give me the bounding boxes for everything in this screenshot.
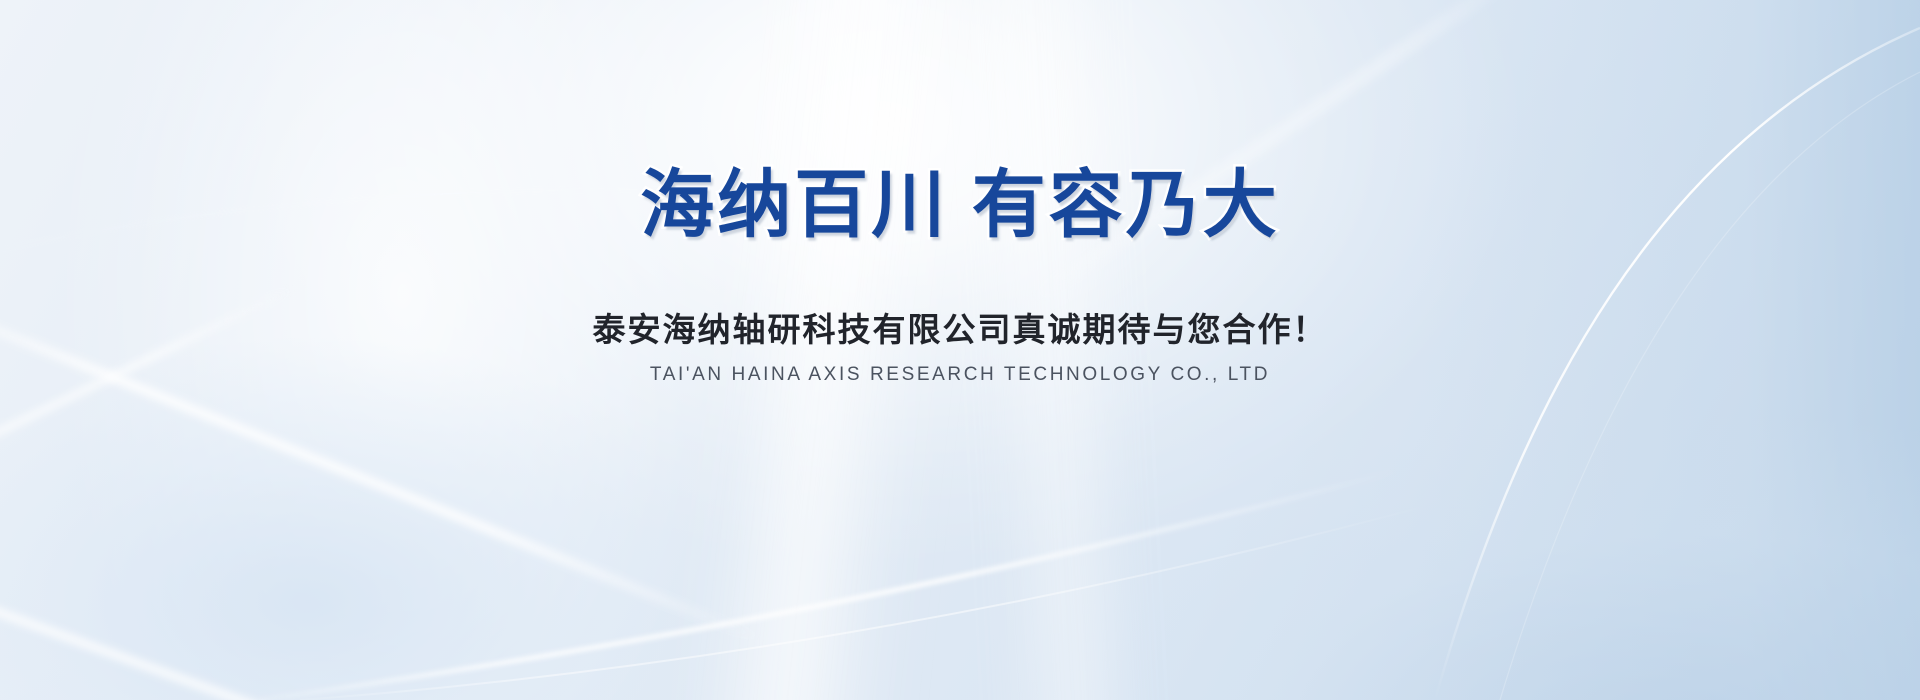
arc-upper-left (0, 189, 700, 250)
background-bloom-lower-left (0, 0, 1920, 700)
light-streak-bottom-left-3 (0, 533, 450, 700)
arc-top-right-companion (1500, 72, 1920, 700)
background-shade-bottom-right (0, 0, 1920, 700)
arc-top-right (1435, 28, 1920, 700)
light-shaft-secondary (975, 0, 1142, 700)
arc-bottom-sweep (260, 470, 1400, 700)
light-streak-bottom-left-1 (0, 269, 766, 645)
banner-subtitle-chinese: 泰安海纳轴研科技有限公司真诚期待与您合作！ (0, 309, 1920, 350)
banner-subtitle-english: TAI'AN HAINA AXIS RESEARCH TECHNOLOGY CO… (0, 363, 1920, 388)
background-bloom-center (0, 0, 1920, 700)
light-streak-upper-right (1029, 0, 1552, 306)
background-bloom-left (0, 0, 1920, 700)
arc-bottom-sweep-thin (300, 505, 1430, 700)
background-shade-right (0, 0, 1920, 700)
hero-banner: 海纳百川 有容乃大 泰安海纳轴研科技有限公司真诚期待与您合作！ TAI'AN H… (0, 0, 1920, 700)
banner-headline: 海纳百川 有容乃大 (0, 168, 1920, 242)
light-streak-bottom-left-2 (0, 284, 295, 519)
banner-content: 海纳百川 有容乃大 泰安海纳轴研科技有限公司真诚期待与您合作！ TAI'AN H… (0, 0, 1920, 700)
light-shaft-primary (680, 0, 969, 700)
decorative-curves (0, 0, 1920, 700)
